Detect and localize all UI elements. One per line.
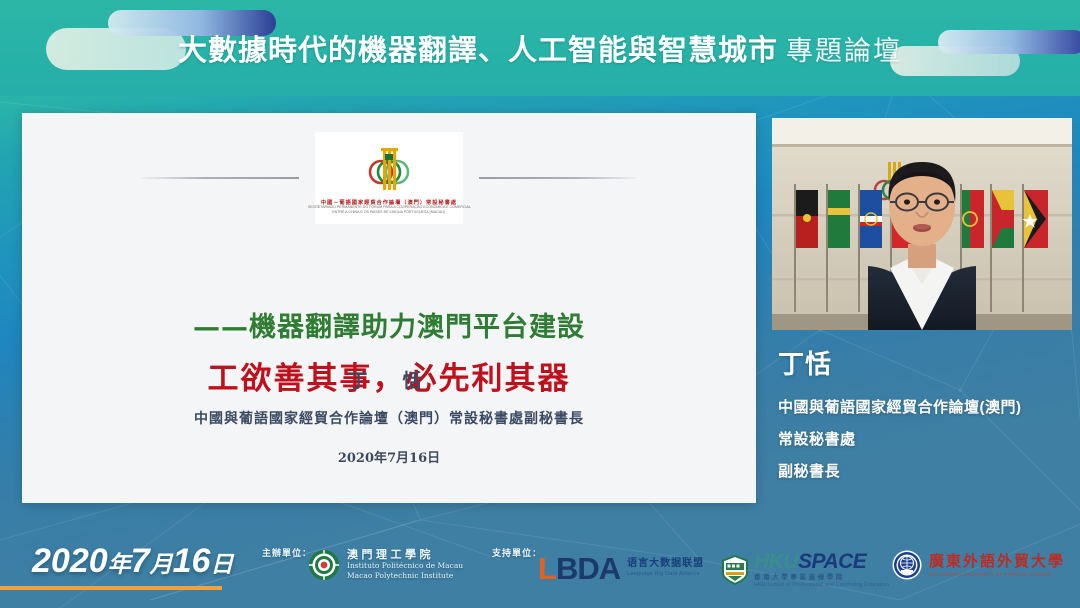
speaker-name: 丁恬 [778, 344, 832, 381]
hku-space-wordmark: HKUSPACE [754, 551, 889, 572]
slide-title-sub: ——機器翻譯助力澳門平台建設 [22, 305, 756, 344]
macao-polytechnic-en: Macao Polytechnic Institute [347, 571, 463, 581]
macao-polytechnic-text: 澳門理工學院 Instituto Politécnico de Macau Ma… [347, 549, 463, 581]
divider-line-left [141, 177, 299, 179]
date-day-unit: 日 [210, 551, 233, 577]
lbda-letters-bda: BDA [556, 551, 620, 586]
event-date-display: 2020年7月16日 [32, 542, 233, 581]
lbda-en: Language Big Data Alliance [627, 571, 704, 578]
logo-lbda: LBDA 语言大数据联盟 Language Big Data Alliance [538, 553, 704, 584]
speaker-affiliation-line-1: 中國與葡語國家經貿合作論壇(澳門) [778, 396, 1022, 417]
logo-gdufs: 廣東外語外貿大學 GUANGDONG UNIVERSITY OF FOREIGN… [892, 550, 1065, 580]
slide-speaker-affiliation: 中國與葡語國家經貿合作論壇（澳門）常設秘書處副秘書長 [22, 408, 756, 428]
hku-space-text: HKUSPACE 香港大學專業進修學院 HKU School of Profes… [754, 551, 889, 588]
space-word: SPACE [798, 550, 866, 573]
macao-polytechnic-icon [308, 549, 340, 581]
date-day: 16 [173, 542, 211, 580]
speaker-title-line-3: 副秘書長 [778, 460, 840, 481]
lbda-cn: 语言大数据联盟 [627, 558, 704, 569]
header-title: 大數據時代的機器翻譯、人工智能與智慧城市 專題論壇 [0, 0, 1080, 96]
date-month-unit: 月 [150, 551, 173, 577]
support-label: 支持單位： [492, 546, 542, 559]
gdufs-text: 廣東外語外貿大學 GUANGDONG UNIVERSITY OF FOREIGN… [929, 553, 1065, 578]
date-year-unit: 年 [108, 551, 131, 577]
gdufs-icon [892, 550, 922, 580]
forum-emblem-mark [361, 144, 417, 196]
logo-hku-space: HKUSPACE 香港大學專業進修學院 HKU School of Profes… [722, 551, 889, 588]
date-year: 2020 [32, 542, 108, 580]
hku-word: HKU [754, 550, 798, 573]
divider-line-right [479, 177, 637, 179]
hku-space-en: HKU School of Professional and Continuin… [754, 582, 889, 588]
logo-macao-polytechnic: 澳門理工學院 Instituto Politécnico de Macau Ma… [308, 549, 463, 581]
forum-emblem-caption-cn: 中國－葡語國家經貿合作論壇（澳門）常設秘書處 [321, 197, 457, 205]
hku-space-cn: 香港大學專業進修學院 [754, 574, 889, 581]
forum-emblem-caption-en1: SECRETARIADO PERMANENTE DO FÓRUM PARA A … [307, 205, 470, 210]
lbda-wordmark: LBDA [538, 553, 620, 584]
forum-emblem-caption-en2: ENTRE A CHINA E OS PAÍSES DE LÍNGUA PORT… [333, 210, 446, 215]
speaker-affiliation-line-2: 常設秘書處 [778, 428, 856, 449]
header-title-suffix: 專題論壇 [786, 29, 902, 68]
forum-emblem: 中國－葡語國家經貿合作論壇（澳門）常設秘書處 SECRETARIADO PERM… [315, 132, 463, 224]
date-underline-accent [0, 586, 222, 590]
hku-space-icon [722, 555, 748, 585]
lbda-text: 语言大数据联盟 Language Big Data Alliance [627, 558, 704, 578]
header-title-main: 大數據時代的機器翻譯、人工智能與智慧城市 [178, 27, 778, 69]
slide-emblem-row: 中國－葡語國家經貿合作論壇（澳門）常設秘書處 SECRETARIADO PERM… [22, 129, 756, 227]
macao-polytechnic-pt: Instituto Politécnico de Macau [347, 561, 463, 571]
date-month: 7 [131, 542, 150, 580]
slide-panel: 中國－葡語國家經貿合作論壇（澳門）常設秘書處 SECRETARIADO PERM… [22, 113, 756, 503]
lbda-letter-l: L [538, 551, 556, 586]
speaker-video-image [772, 118, 1072, 330]
gdufs-cn: 廣東外語外貿大學 [929, 553, 1065, 570]
gdufs-en: GUANGDONG UNIVERSITY OF FOREIGN STUDIES [929, 572, 1065, 578]
slide-speaker-name: 丁 恬 [22, 366, 756, 393]
header-banner: 大數據時代的機器翻譯、人工智能與智慧城市 專題論壇 [0, 0, 1080, 96]
host-label: 主辦單位： [262, 546, 312, 559]
speaker-video-feed[interactable] [772, 118, 1072, 330]
macao-polytechnic-cn: 澳門理工學院 [347, 549, 463, 561]
slide-date: 2020年7月16日 [22, 447, 756, 466]
presentation-screen: 大數據時代的機器翻譯、人工智能與智慧城市 專題論壇 [0, 0, 1080, 608]
